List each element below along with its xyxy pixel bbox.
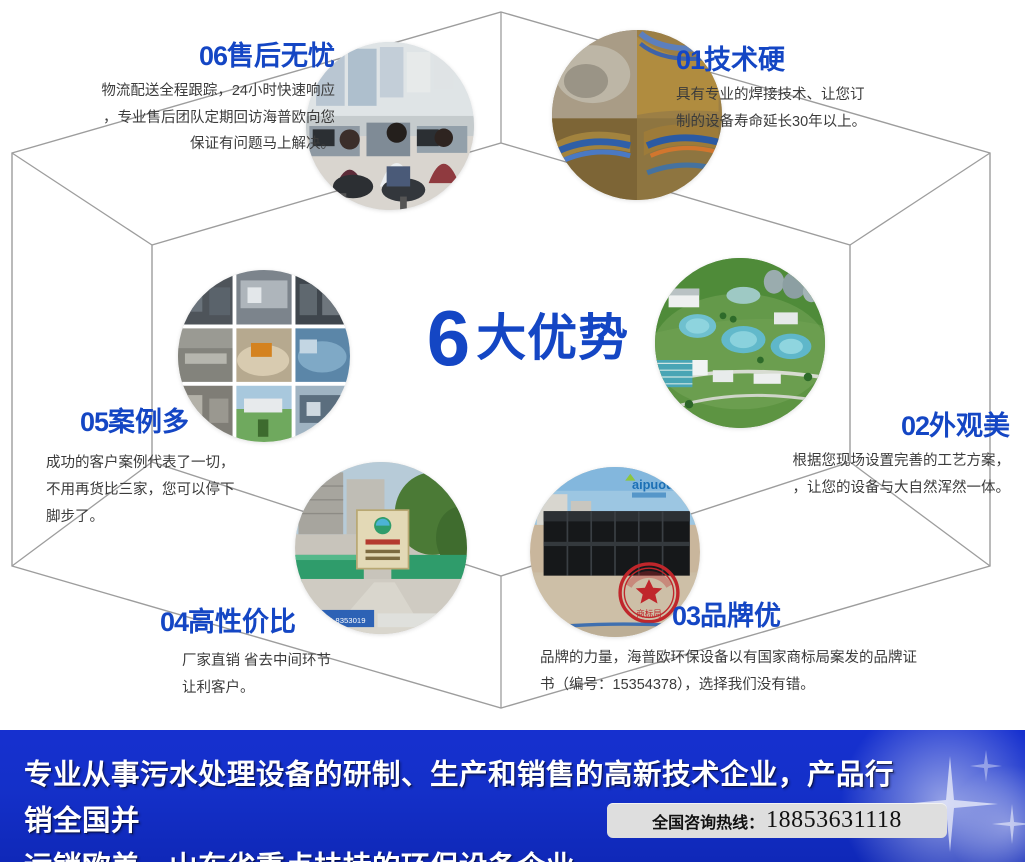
feature-03-number: 03: [672, 601, 700, 631]
feature-02-number: 02: [901, 411, 929, 441]
feature-03-line-1: 品牌的力量，海普欧环保设备以有国家商标局案发的品牌证: [540, 645, 1010, 672]
hotline-number: 18853631118: [766, 807, 902, 834]
feature-04-heading: 04高性价比: [160, 608, 490, 638]
feature-04-line-1: 厂家直销 省去中间环节: [182, 648, 512, 675]
feature-03-line-2: 书（编号：15354378），选择我们没有错。: [540, 672, 1010, 699]
feature-01-heading: 01技术硬: [676, 46, 1006, 76]
feature-05-body: 成功的客户案例代表了一切， 不用再货比三家，您可以停下 脚步了。: [46, 450, 376, 530]
feature-06-line-2: ，专业售后团队定期回访海普欧向您: [10, 105, 335, 132]
feature-05-line-1: 成功的客户案例代表了一切，: [46, 450, 376, 477]
feature-02-title: 外观美: [929, 411, 1010, 441]
feature-block-05: 05案例多: [80, 408, 410, 438]
feature-06-body: 物流配送全程跟踪，24小时快速响应 ，专业售后团队定期回访海普欧向您 保证有问题…: [10, 78, 335, 158]
feature-02-line-2: ，让您的设备与大自然浑然一体。: [640, 475, 1010, 502]
feature-06-heading: 06售后无忧: [10, 42, 335, 72]
feature-05-heading: 05案例多: [80, 408, 410, 438]
center-title: 6 大优势: [398, 288, 658, 388]
feature-04-line-2: 让利客户。: [182, 675, 512, 702]
banner-line-2: 远销欧美，山东省重点扶持的环保设备企业。: [24, 844, 904, 862]
feature-06-line-3: 保证有问题马上解决。: [10, 131, 335, 158]
bottom-banner: 专业从事污水处理设备的研制、生产和销售的高新技术企业，产品行销全国并 远销欧美，…: [0, 730, 1025, 862]
feature-03-body: 品牌的力量，海普欧环保设备以有国家商标局案发的品牌证 书（编号：15354378…: [540, 645, 1010, 699]
feature-06-title: 售后无忧: [227, 41, 335, 71]
feature-04-title: 高性价比: [188, 607, 296, 637]
center-number: 6: [427, 299, 468, 377]
feature-01-title: 技术硬: [704, 45, 785, 75]
feature-05-number: 05: [80, 407, 108, 437]
feature-05-title: 案例多: [108, 407, 189, 437]
feature-01-line-2: 制的设备寿命延长30年以上。: [676, 109, 1006, 136]
feature-block-03: 03品牌优: [672, 602, 1022, 632]
feature-03-heading: 03品牌优: [672, 602, 1022, 632]
feature-06-number: 06: [199, 41, 227, 71]
feature-05-line-2: 不用再货比三家，您可以停下: [46, 477, 376, 504]
feature-03-title: 品牌优: [700, 601, 781, 631]
feature-01-body: 具有专业的焊接技术、让您订 制的设备寿命延长30年以上。: [676, 82, 1006, 136]
hotline-label: 全国咨询热线：: [652, 809, 764, 833]
feature-06-line-1: 物流配送全程跟踪，24小时快速响应: [10, 78, 335, 105]
feature-block-03-body: 品牌的力量，海普欧环保设备以有国家商标局案发的品牌证 书（编号：15354378…: [540, 645, 1010, 699]
feature-04-body: 厂家直销 省去中间环节 让利客户。: [182, 648, 512, 702]
feature-04-number: 04: [160, 607, 188, 637]
feature-01-number: 01: [676, 45, 704, 75]
feature-02-heading: 02外观美: [640, 412, 1010, 442]
feature-block-06: 06售后无忧 物流配送全程跟踪，24小时快速响应 ，专业售后团队定期回访海普欧向…: [10, 42, 335, 158]
feature-02-body: 根据您现场设置完善的工艺方案， ，让您的设备与大自然浑然一体。: [640, 448, 1010, 502]
feature-05-line-3: 脚步了。: [46, 504, 376, 531]
center-word: 大优势: [476, 313, 629, 363]
feature-block-04: 04高性价比: [160, 608, 490, 638]
feature-block-01: 01技术硬 具有专业的焊接技术、让您订 制的设备寿命延长30年以上。: [676, 46, 1006, 135]
feature-01-line-1: 具有专业的焊接技术、让您订: [676, 82, 1006, 109]
wastewater-plant-aerial-photo: [655, 258, 825, 428]
feature-block-05-body: 成功的客户案例代表了一切， 不用再货比三家，您可以停下 脚步了。: [46, 450, 376, 530]
feature-02-line-1: 根据您现场设置完善的工艺方案，: [640, 448, 1010, 475]
feature-block-02: 02外观美 根据您现场设置完善的工艺方案， ，让您的设备与大自然浑然一体。: [640, 412, 1010, 501]
infographic-canvas: 6 大优势: [0, 0, 1025, 862]
feature-block-04-body: 厂家直销 省去中间环节 让利客户。: [182, 648, 512, 702]
hotline-box[interactable]: 全国咨询热线： 18853631118: [607, 803, 947, 838]
svg-text:商标局: 商标局: [636, 609, 662, 619]
